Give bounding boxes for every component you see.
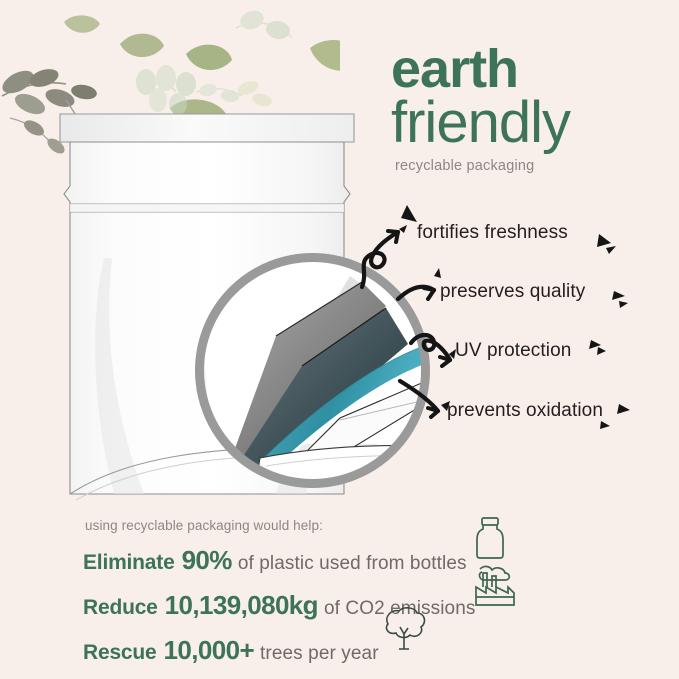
- tree-icon: [378, 604, 430, 656]
- stat-verb: Rescue: [83, 641, 157, 665]
- feature-label-fortifies-freshness: fortifies freshness: [417, 222, 568, 244]
- bottle-icon: [470, 515, 510, 561]
- feature-label-uv-protection: UV protection: [455, 340, 571, 362]
- headline-subtitle: recyclable packaging: [395, 158, 671, 174]
- layer-cross-section-magnifier: [190, 248, 435, 493]
- factory-icon: [470, 563, 518, 609]
- stat-tail: trees per year: [260, 643, 379, 665]
- headline-block: earth friendly recyclable packaging: [391, 44, 671, 174]
- headline-line-2: friendly: [391, 95, 671, 152]
- feature-label-preserves-quality: preserves quality: [440, 281, 585, 303]
- feature-label-prevents-oxidation: prevents oxidation: [447, 400, 603, 422]
- headline-line-1: earth: [391, 44, 671, 95]
- stat-verb: Eliminate: [83, 551, 175, 575]
- stat-number: 90%: [182, 545, 232, 576]
- stat-number: 10,139,080kg: [165, 590, 318, 621]
- stat-row-rescue: Rescue 10,000+ trees per year: [83, 635, 583, 666]
- stat-tail: of plastic used from bottles: [238, 553, 467, 575]
- poster-canvas: earth friendly recyclable packaging fort…: [0, 0, 679, 679]
- stat-number: 10,000+: [164, 635, 255, 666]
- stat-verb: Reduce: [83, 596, 158, 620]
